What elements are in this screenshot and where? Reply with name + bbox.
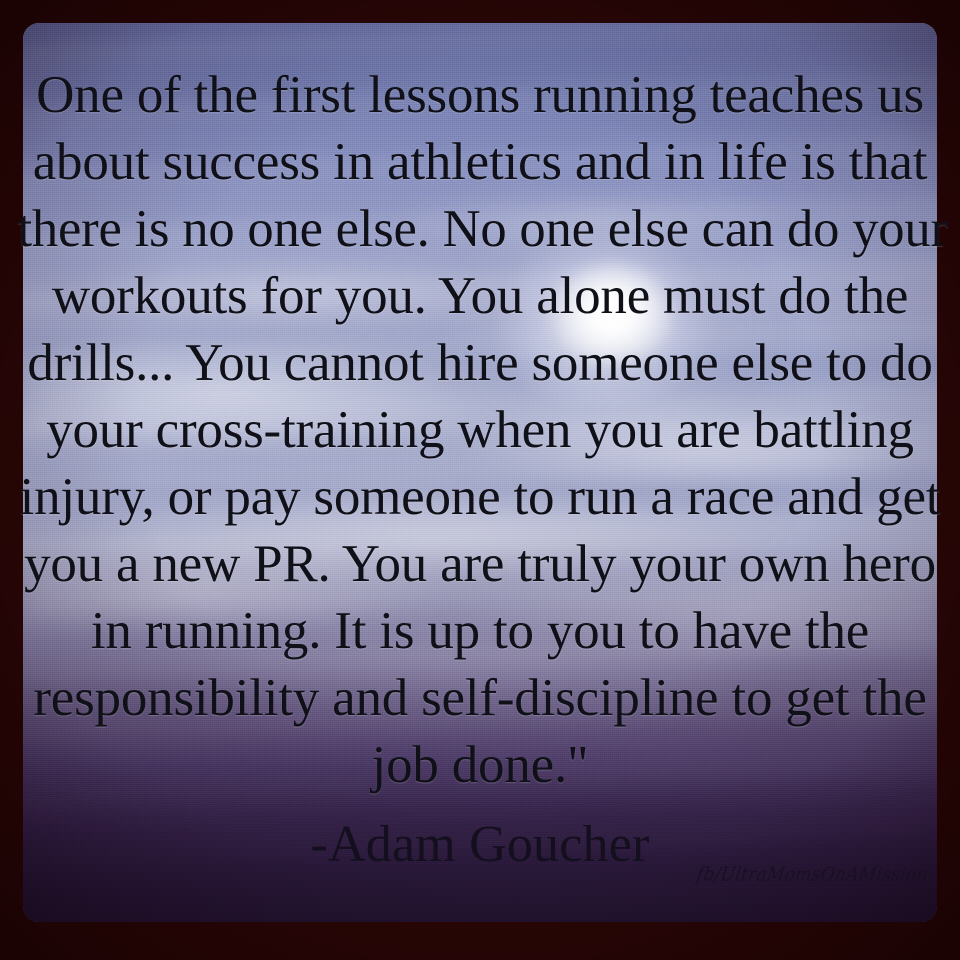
watermark-credit: fb/UltraMomsOnAMission <box>695 864 929 886</box>
quote-text: One of the first lessons running teaches… <box>0 62 960 799</box>
quote-line: you a new PR. You are truly your own her… <box>14 531 946 598</box>
quote-line: there is no one else. No one else can do… <box>17 196 942 263</box>
quote-line: job done." <box>14 732 946 799</box>
quote-line: injury, or pay someone to run a race and… <box>14 464 946 531</box>
quote-line: workouts for you. You alone must do the <box>14 263 946 330</box>
quote-line: drills... You cannot hire someone else t… <box>14 330 946 397</box>
quote-line: in running. It is up to you to have the <box>14 598 946 665</box>
quote-line: responsibility and self-discipline to ge… <box>14 665 946 732</box>
quote-line: about success in athletics and in life i… <box>14 129 946 196</box>
quote-line: your cross-training when you are battlin… <box>14 397 946 464</box>
quote-image-card: One of the first lessons running teaches… <box>0 0 960 960</box>
quote-line: One of the first lessons running teaches… <box>14 62 946 129</box>
